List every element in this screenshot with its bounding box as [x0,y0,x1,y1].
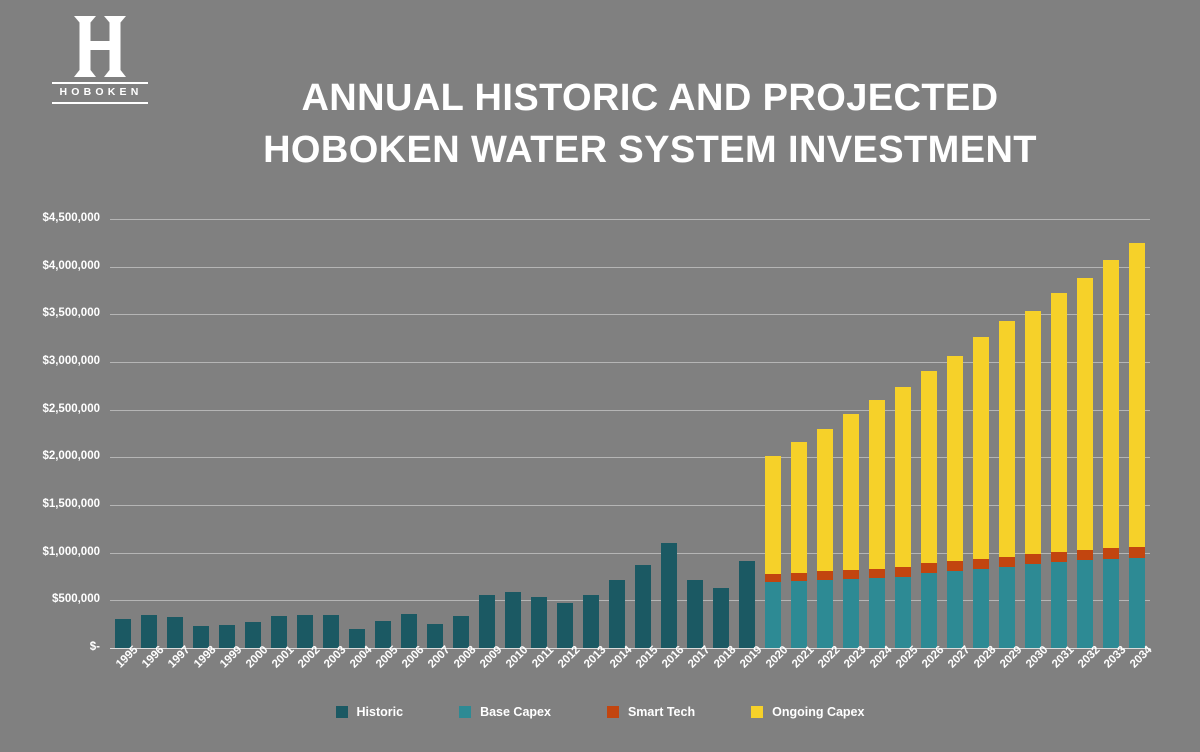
bar-segment-ongoing-capex [1129,243,1146,547]
bar-segment-ongoing-capex [973,337,990,559]
bar-slot[interactable] [604,219,630,648]
stacked-bar[interactable] [557,603,574,648]
stacked-bar[interactable] [1077,278,1094,648]
stacked-bar[interactable] [115,619,132,648]
x-axis-tick: 2019 [734,650,760,700]
bar-segment-historic [323,615,340,648]
x-axis-tick: 2023 [838,650,864,700]
bar-segment-historic [297,615,314,648]
bar-segment-base-capex [843,579,860,648]
x-axis-tick: 2003 [318,650,344,700]
bar-segment-historic [557,603,574,648]
legend-item-smart-tech[interactable]: Smart Tech [607,705,695,719]
bar-segment-ongoing-capex [895,387,912,567]
bar-segment-base-capex [1129,558,1146,648]
stacked-bar[interactable] [947,356,964,648]
bar-segment-historic [635,565,652,648]
stacked-bar[interactable] [583,595,600,648]
hoboken-logo: HOBOKEN [52,14,148,104]
bar-slot[interactable] [188,219,214,648]
bar-slot[interactable] [292,219,318,648]
stacked-bar[interactable] [713,588,730,648]
y-axis-tick-label: $4,000,000 [0,260,100,272]
bar-segment-ongoing-capex [843,414,860,570]
bar-segment-historic [453,616,470,648]
x-axis-tick: 2025 [890,650,916,700]
stacked-bar[interactable] [921,371,938,648]
bar-segment-base-capex [1077,560,1094,648]
bar-slot[interactable] [500,219,526,648]
bar-segment-smart-tech [765,574,782,583]
bar-segment-smart-tech [791,573,808,582]
bar-slot[interactable] [760,219,786,648]
bar-segment-base-capex [1025,564,1042,648]
bar-segment-historic [583,595,600,648]
bar-segment-ongoing-capex [1025,311,1042,554]
bar-slot[interactable] [890,219,916,648]
legend-item-ongoing-capex[interactable]: Ongoing Capex [751,705,864,719]
x-axis-tick: 2008 [448,650,474,700]
bar-segment-smart-tech [947,561,964,571]
x-axis-tick: 2033 [1098,650,1124,700]
x-axis-tick: 2013 [578,650,604,700]
x-axis-tick: 2000 [240,650,266,700]
bar-segment-historic [219,625,236,648]
chart-title-line-2: HOBOKEN WATER SYSTEM INVESTMENT [150,124,1150,176]
bar-slot[interactable] [812,219,838,648]
x-axis-tick: 2024 [864,650,890,700]
bar-segment-base-capex [765,582,782,648]
x-axis-tick: 2018 [708,650,734,700]
bar-slot[interactable] [630,219,656,648]
stacked-bar[interactable] [323,615,340,648]
stacked-bar[interactable] [765,456,782,648]
bar-slot[interactable] [110,219,136,648]
bar-segment-smart-tech [973,559,990,569]
bar-segment-historic [115,619,132,648]
stacked-bar[interactable] [869,400,886,648]
stacked-bar[interactable] [401,614,418,648]
bar-slot[interactable] [422,219,448,648]
bar-segment-historic [505,592,522,648]
stacked-bar[interactable] [271,616,288,648]
stacked-bar[interactable] [1025,311,1042,648]
x-axis-tick: 2016 [656,650,682,700]
bar-slot[interactable] [734,219,760,648]
legend-swatch-icon [459,706,471,718]
bar-slot[interactable] [552,219,578,648]
bar-slot[interactable] [1020,219,1046,648]
stacked-bar[interactable] [1103,260,1120,648]
bar-segment-smart-tech [921,563,938,573]
bar-segment-base-capex [999,567,1016,648]
bar-segment-ongoing-capex [869,400,886,569]
bar-segment-historic [609,580,626,648]
x-axis-tick: 1997 [162,650,188,700]
bar-slot[interactable] [448,219,474,648]
bar-segment-historic [375,621,392,648]
bar-segment-historic [713,588,730,648]
bar-segment-historic [167,617,184,648]
bar-slot[interactable] [1072,219,1098,648]
legend-item-historic[interactable]: Historic [336,705,404,719]
stacked-bar[interactable] [999,321,1016,648]
bar-slot[interactable] [1098,219,1124,648]
bar-slot[interactable] [838,219,864,648]
bar-segment-smart-tech [999,557,1016,567]
bar-slot[interactable] [968,219,994,648]
stacked-bar[interactable] [505,592,522,648]
x-axis-tick: 2026 [916,650,942,700]
bar-segment-ongoing-capex [791,442,808,573]
bar-segment-smart-tech [843,570,860,579]
x-axis-tick: 2012 [552,650,578,700]
bar-segment-smart-tech [895,567,912,577]
bar-slot[interactable] [318,219,344,648]
x-axis-tick: 2010 [500,650,526,700]
stacked-bar[interactable] [427,624,444,648]
bar-slot[interactable] [1124,219,1150,648]
bar-segment-historic [193,626,210,648]
bar-segment-base-capex [1051,562,1068,648]
stacked-bar[interactable] [245,622,262,648]
x-axis-tick: 2014 [604,650,630,700]
stacked-bar[interactable] [479,595,496,648]
x-axis-tick: 2007 [422,650,448,700]
stacked-bar[interactable] [973,337,990,648]
bar-segment-historic [141,615,158,648]
bar-segment-historic [687,580,704,648]
y-axis-tick-label: $2,000,000 [0,450,100,462]
x-axis-tick: 2031 [1046,650,1072,700]
x-axis-tick: 2022 [812,650,838,700]
stacked-bar[interactable] [661,543,678,648]
y-axis-tick-label: $4,500,000 [0,212,100,224]
bar-slot[interactable] [994,219,1020,648]
bar-segment-smart-tech [1025,554,1042,564]
logo-wordmark: HOBOKEN [52,82,148,104]
bar-segment-smart-tech [1103,548,1120,559]
stacked-bar[interactable] [141,615,158,648]
y-axis-tick-label: $1,500,000 [0,498,100,510]
stacked-bar[interactable] [843,414,860,648]
x-axis-tick: 2015 [630,650,656,700]
x-axis-tick: 1995 [110,650,136,700]
bar-slot[interactable] [864,219,890,648]
bar-segment-base-capex [921,573,938,648]
bar-segment-smart-tech [1051,552,1068,562]
bar-segment-historic [661,543,678,648]
x-axis-tick: 2020 [760,650,786,700]
legend-swatch-icon [336,706,348,718]
bar-segment-smart-tech [1129,547,1146,558]
bar-segment-ongoing-capex [921,371,938,564]
bar-segment-ongoing-capex [999,321,1016,557]
bar-segment-base-capex [973,569,990,648]
x-axis-tick: 2005 [370,650,396,700]
bar-slot[interactable] [240,219,266,648]
bar-segment-smart-tech [817,571,834,580]
hoboken-h-monogram-icon [52,14,148,80]
stacked-bar[interactable] [531,597,548,648]
x-axis-tick: 2001 [266,650,292,700]
x-axis-tick: 1999 [214,650,240,700]
stacked-bar[interactable] [739,561,756,648]
x-axis-labels: 1995199619971998199920002001200220032004… [110,650,1150,700]
x-axis-tick: 2002 [292,650,318,700]
x-axis-tick: 2032 [1072,650,1098,700]
bar-segment-ongoing-capex [1051,293,1068,552]
bar-segment-smart-tech [869,569,886,579]
bar-series-group [110,219,1150,648]
chart-title-line-1: ANNUAL HISTORIC AND PROJECTED [150,72,1150,124]
bar-segment-base-capex [895,577,912,649]
legend-swatch-icon [607,706,619,718]
bar-segment-base-capex [791,581,808,648]
x-axis-tick: 2017 [682,650,708,700]
bar-segment-base-capex [947,571,964,648]
x-axis-tick: 2021 [786,650,812,700]
bar-segment-smart-tech [1077,550,1094,560]
x-axis-tick: 2029 [994,650,1020,700]
x-axis-tick: 1996 [136,650,162,700]
legend-label: Ongoing Capex [772,705,864,719]
y-axis-tick-label: $500,000 [0,593,100,605]
bar-slot[interactable] [942,219,968,648]
x-axis-tick: 2011 [526,650,552,700]
y-axis-tick-label: $- [0,641,100,653]
bar-slot[interactable] [1046,219,1072,648]
bar-slot[interactable] [578,219,604,648]
stacked-bar[interactable] [1051,293,1068,648]
bar-slot[interactable] [266,219,292,648]
bar-segment-historic [427,624,444,648]
chart-legend: HistoricBase CapexSmart TechOngoing Cape… [0,705,1200,719]
bar-slot[interactable] [396,219,422,648]
x-axis-tick: 2030 [1020,650,1046,700]
bar-segment-ongoing-capex [765,456,782,574]
stacked-bar[interactable] [193,626,210,648]
bar-segment-historic [401,614,418,648]
bar-slot[interactable] [682,219,708,648]
stacked-bar[interactable] [297,615,314,648]
x-axis-tick: 2006 [396,650,422,700]
bar-slot[interactable] [526,219,552,648]
chart-title: ANNUAL HISTORIC AND PROJECTED HOBOKEN WA… [150,72,1150,177]
bar-slot[interactable] [656,219,682,648]
bar-segment-base-capex [869,578,886,648]
stacked-bar[interactable] [791,442,808,648]
y-axis-tick-label: $1,000,000 [0,546,100,558]
bar-segment-base-capex [817,580,834,648]
bar-slot[interactable] [344,219,370,648]
legend-label: Base Capex [480,705,551,719]
y-axis-tick-label: $3,500,000 [0,307,100,319]
stacked-bar[interactable] [453,616,470,648]
x-axis-tick: 2034 [1124,650,1150,700]
bar-slot[interactable] [214,219,240,648]
bar-segment-ongoing-capex [947,356,964,561]
bar-segment-ongoing-capex [817,429,834,572]
plot-area [110,219,1150,648]
legend-label: Smart Tech [628,705,695,719]
bar-slot[interactable] [136,219,162,648]
bar-segment-historic [271,616,288,648]
bar-slot[interactable] [708,219,734,648]
stacked-bar[interactable] [687,580,704,648]
stacked-bar[interactable] [817,429,834,648]
stacked-bar[interactable] [219,625,236,648]
bar-segment-ongoing-capex [1103,260,1120,548]
bar-slot[interactable] [162,219,188,648]
x-axis-tick: 2004 [344,650,370,700]
x-axis-tick: 1998 [188,650,214,700]
bar-segment-historic [245,622,262,648]
bar-slot[interactable] [474,219,500,648]
y-axis-tick-label: $2,500,000 [0,403,100,415]
y-axis-tick-label: $3,000,000 [0,355,100,367]
stacked-bar[interactable] [895,387,912,648]
legend-swatch-icon [751,706,763,718]
bar-slot[interactable] [916,219,942,648]
stacked-bar[interactable] [1129,243,1146,648]
bar-slot[interactable] [370,219,396,648]
bar-segment-historic [479,595,496,648]
x-axis-tick: 2028 [968,650,994,700]
bar-slot[interactable] [786,219,812,648]
stacked-bar[interactable] [609,580,626,648]
x-axis-tick: 2009 [474,650,500,700]
x-axis-tick: 2027 [942,650,968,700]
bar-segment-ongoing-capex [1077,278,1094,550]
bar-segment-base-capex [1103,559,1120,648]
stacked-bar[interactable] [167,617,184,648]
bar-segment-historic [531,597,548,648]
bar-segment-historic [739,561,756,648]
legend-label: Historic [357,705,404,719]
stacked-bar[interactable] [635,565,652,648]
stacked-bar[interactable] [375,621,392,648]
legend-item-base-capex[interactable]: Base Capex [459,705,551,719]
